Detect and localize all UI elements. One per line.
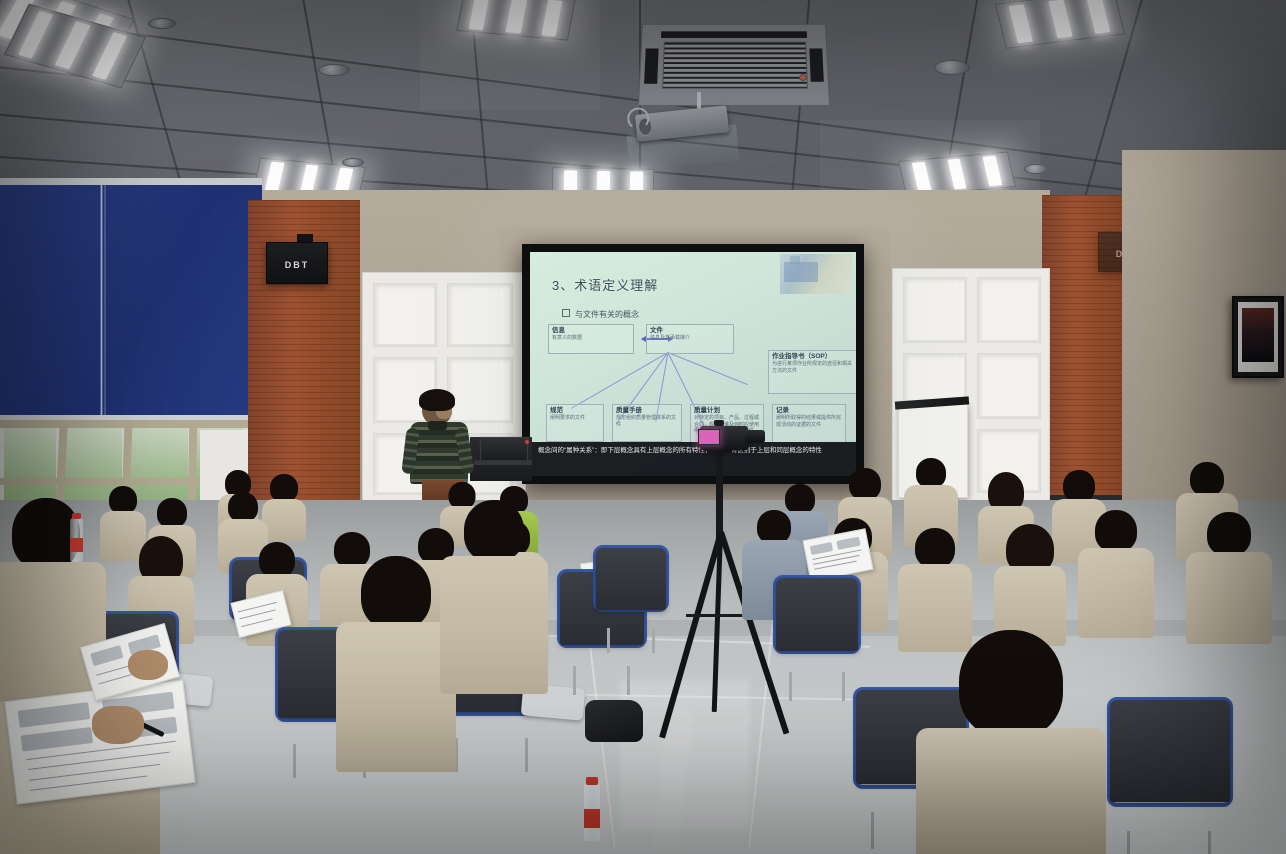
bottle-cap xyxy=(586,777,598,785)
laptop-indicator-light xyxy=(525,440,529,444)
chair[interactable] xyxy=(596,548,666,630)
audience-person xyxy=(440,500,548,690)
ac-grille xyxy=(662,42,807,89)
chair[interactable] xyxy=(776,578,858,674)
hand xyxy=(92,706,144,744)
slide-box-document: 文件 信息及其承载媒介 xyxy=(646,324,734,354)
audience-person xyxy=(1078,510,1154,634)
audience-person xyxy=(916,630,1106,854)
camcorder-lcd-screen[interactable] xyxy=(698,429,720,445)
slide-bullet: 与文件有关的概念 xyxy=(562,309,639,320)
slide-box-sop: 作业指导书（SOP） 为进行某项作业所规定的途径和相关方法的文件 xyxy=(768,350,856,394)
laptop-keyboard-base[interactable] xyxy=(473,460,532,465)
speaker-brand-label: DBT xyxy=(267,260,327,270)
ceiling-sensor-dome xyxy=(1024,164,1048,174)
water-bottle[interactable] xyxy=(70,518,83,562)
slide-title: 3、术语定义理解 xyxy=(552,278,658,294)
bottle-cap xyxy=(72,513,81,519)
ceiling-speaker-dome xyxy=(148,18,176,29)
audience-person xyxy=(336,556,456,766)
ceiling-speaker-dome xyxy=(318,64,350,76)
bottle-label xyxy=(70,538,83,552)
ceiling-sensor-dome xyxy=(342,158,364,167)
wall-speaker-left: DBT xyxy=(266,242,328,284)
presenter-laptop[interactable] xyxy=(480,437,529,463)
window-blinds-blue[interactable] xyxy=(0,185,262,425)
slide-box-information: 信息 有意义的数据 xyxy=(548,324,634,354)
audience-person xyxy=(994,524,1066,642)
conference-room-photo: DBT DBT xyxy=(0,0,1286,854)
hand xyxy=(128,650,168,680)
floor-bag xyxy=(585,700,643,742)
audience-person xyxy=(1186,512,1272,640)
water-bottle[interactable] xyxy=(584,783,600,841)
picture-artwork xyxy=(1242,308,1274,362)
ac-indicator-light xyxy=(799,74,807,81)
chair[interactable] xyxy=(1110,700,1230,834)
framed-wall-picture xyxy=(1232,296,1284,378)
ceiling-speaker-dome xyxy=(934,60,970,75)
slide-box-specification: 规范 阐明要求的文件 xyxy=(546,404,604,442)
bottle-label xyxy=(584,809,600,829)
camcorder-microphone xyxy=(714,420,724,426)
camcorder-lens-barrel xyxy=(745,430,765,443)
audience-person xyxy=(262,474,306,538)
presenter-hair xyxy=(419,389,455,411)
air-conditioner-unit xyxy=(638,24,830,106)
slide-decorative-photo xyxy=(780,254,852,294)
tripod-center-column xyxy=(716,452,723,538)
bullet-square-icon xyxy=(562,309,570,317)
